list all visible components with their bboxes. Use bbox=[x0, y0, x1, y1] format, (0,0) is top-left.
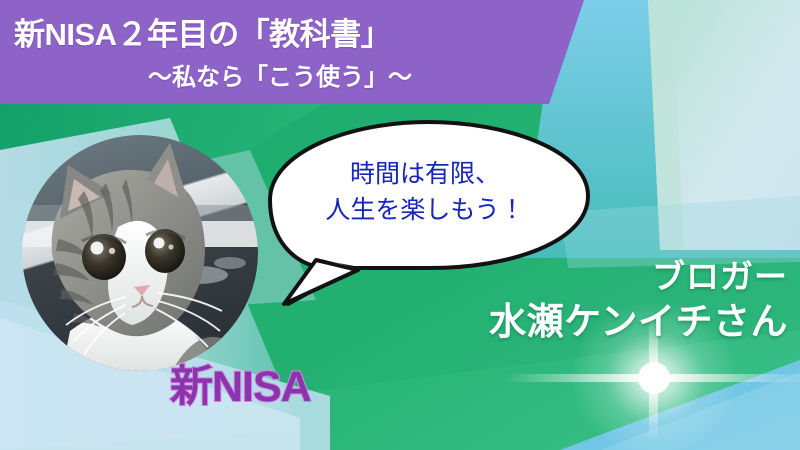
page-title: 新NISA２年目の「教科書」 bbox=[14, 17, 391, 53]
page-subtitle: 〜私なら「こう使う」〜 bbox=[0, 57, 560, 92]
guest-role: ブロガー bbox=[489, 258, 788, 297]
article-thumbnail-banner: 新NISA２年目の「教科書」 〜私なら「こう使う」〜 bbox=[0, 0, 800, 450]
header-text-block: 新NISA２年目の「教科書」 〜私なら「こう使う」〜 bbox=[0, 0, 560, 104]
guest-name: 水瀬ケンイチさん bbox=[489, 299, 788, 344]
guest-name-block: ブロガー 水瀬ケンイチさん bbox=[489, 258, 788, 344]
speech-bubble-line-1: 時間は有限、 bbox=[275, 156, 575, 192]
speech-bubble-tail bbox=[284, 260, 358, 304]
cat-portrait-photo bbox=[22, 135, 258, 371]
nisa-badge-label: 新NISA bbox=[170, 352, 311, 414]
speech-bubble-text: 時間は有限、 人生を楽しもう！ bbox=[275, 156, 575, 229]
speech-bubble-line-2: 人生を楽しもう！ bbox=[275, 192, 575, 228]
cat-illustration bbox=[22, 135, 258, 371]
